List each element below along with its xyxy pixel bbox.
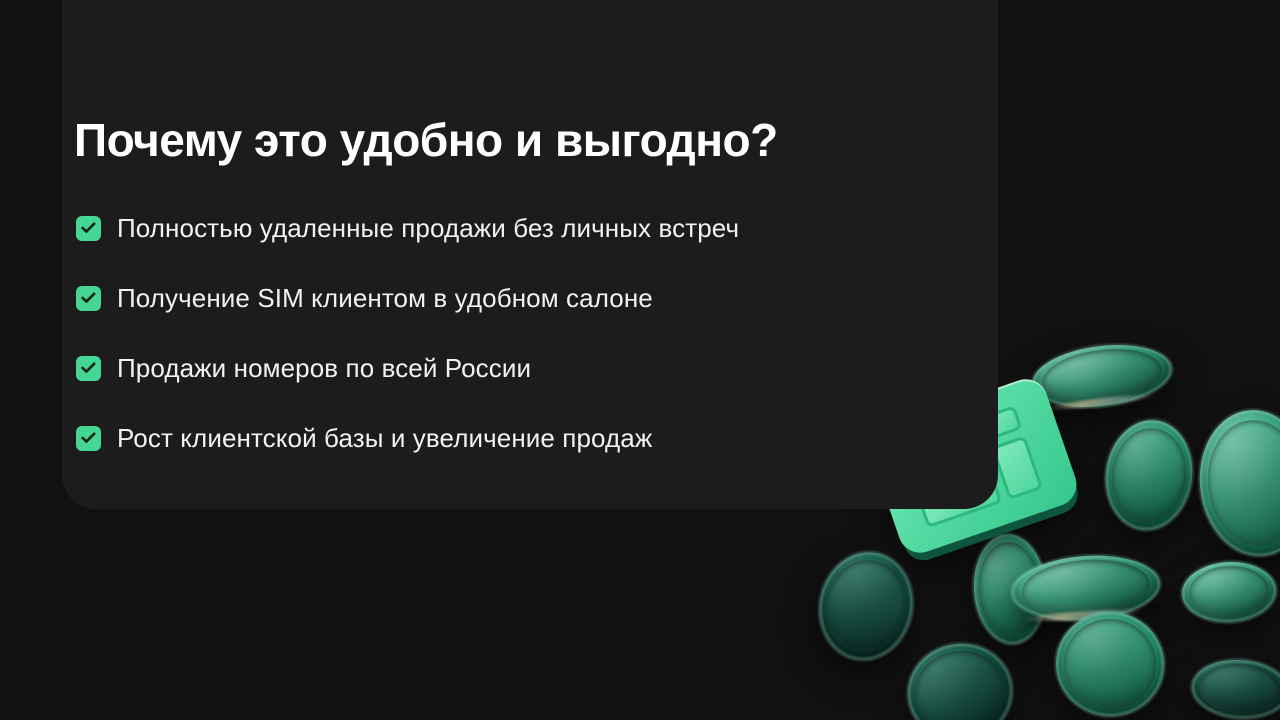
checkbox-checked-icon: [76, 286, 101, 311]
list-item: Рост клиентской базы и увеличение продаж: [76, 422, 739, 454]
coin: [970, 532, 1049, 647]
list-item-label: Продажи номеров по всей России: [117, 353, 531, 384]
coin: [810, 544, 922, 669]
page-title: Почему это удобно и выгодно?: [74, 113, 778, 167]
coin: [1029, 338, 1175, 415]
list-item-label: Получение SIM клиентом в удобном салоне: [117, 283, 653, 314]
list-item: Получение SIM клиентом в удобном салоне: [76, 282, 739, 314]
coin: [1051, 607, 1169, 720]
list-item-label: Полностью удаленные продажи без личных в…: [117, 213, 739, 244]
coin: [1193, 405, 1280, 562]
coin: [1099, 415, 1199, 536]
list-item: Полностью удаленные продажи без личных в…: [76, 212, 739, 244]
checkbox-checked-icon: [76, 426, 101, 451]
coin: [901, 636, 1019, 720]
checkbox-checked-icon: [76, 356, 101, 381]
list-item-label: Рост клиентской базы и увеличение продаж: [117, 423, 652, 454]
checkbox-checked-icon: [76, 216, 101, 241]
benefits-list: Полностью удаленные продажи без личных в…: [76, 212, 739, 454]
coin: [1010, 551, 1162, 625]
coin: [1180, 560, 1277, 625]
slide: Почему это удобно и выгодно? Полностью у…: [0, 0, 1280, 720]
list-item: Продажи номеров по всей России: [76, 352, 739, 384]
coin: [1190, 657, 1280, 720]
